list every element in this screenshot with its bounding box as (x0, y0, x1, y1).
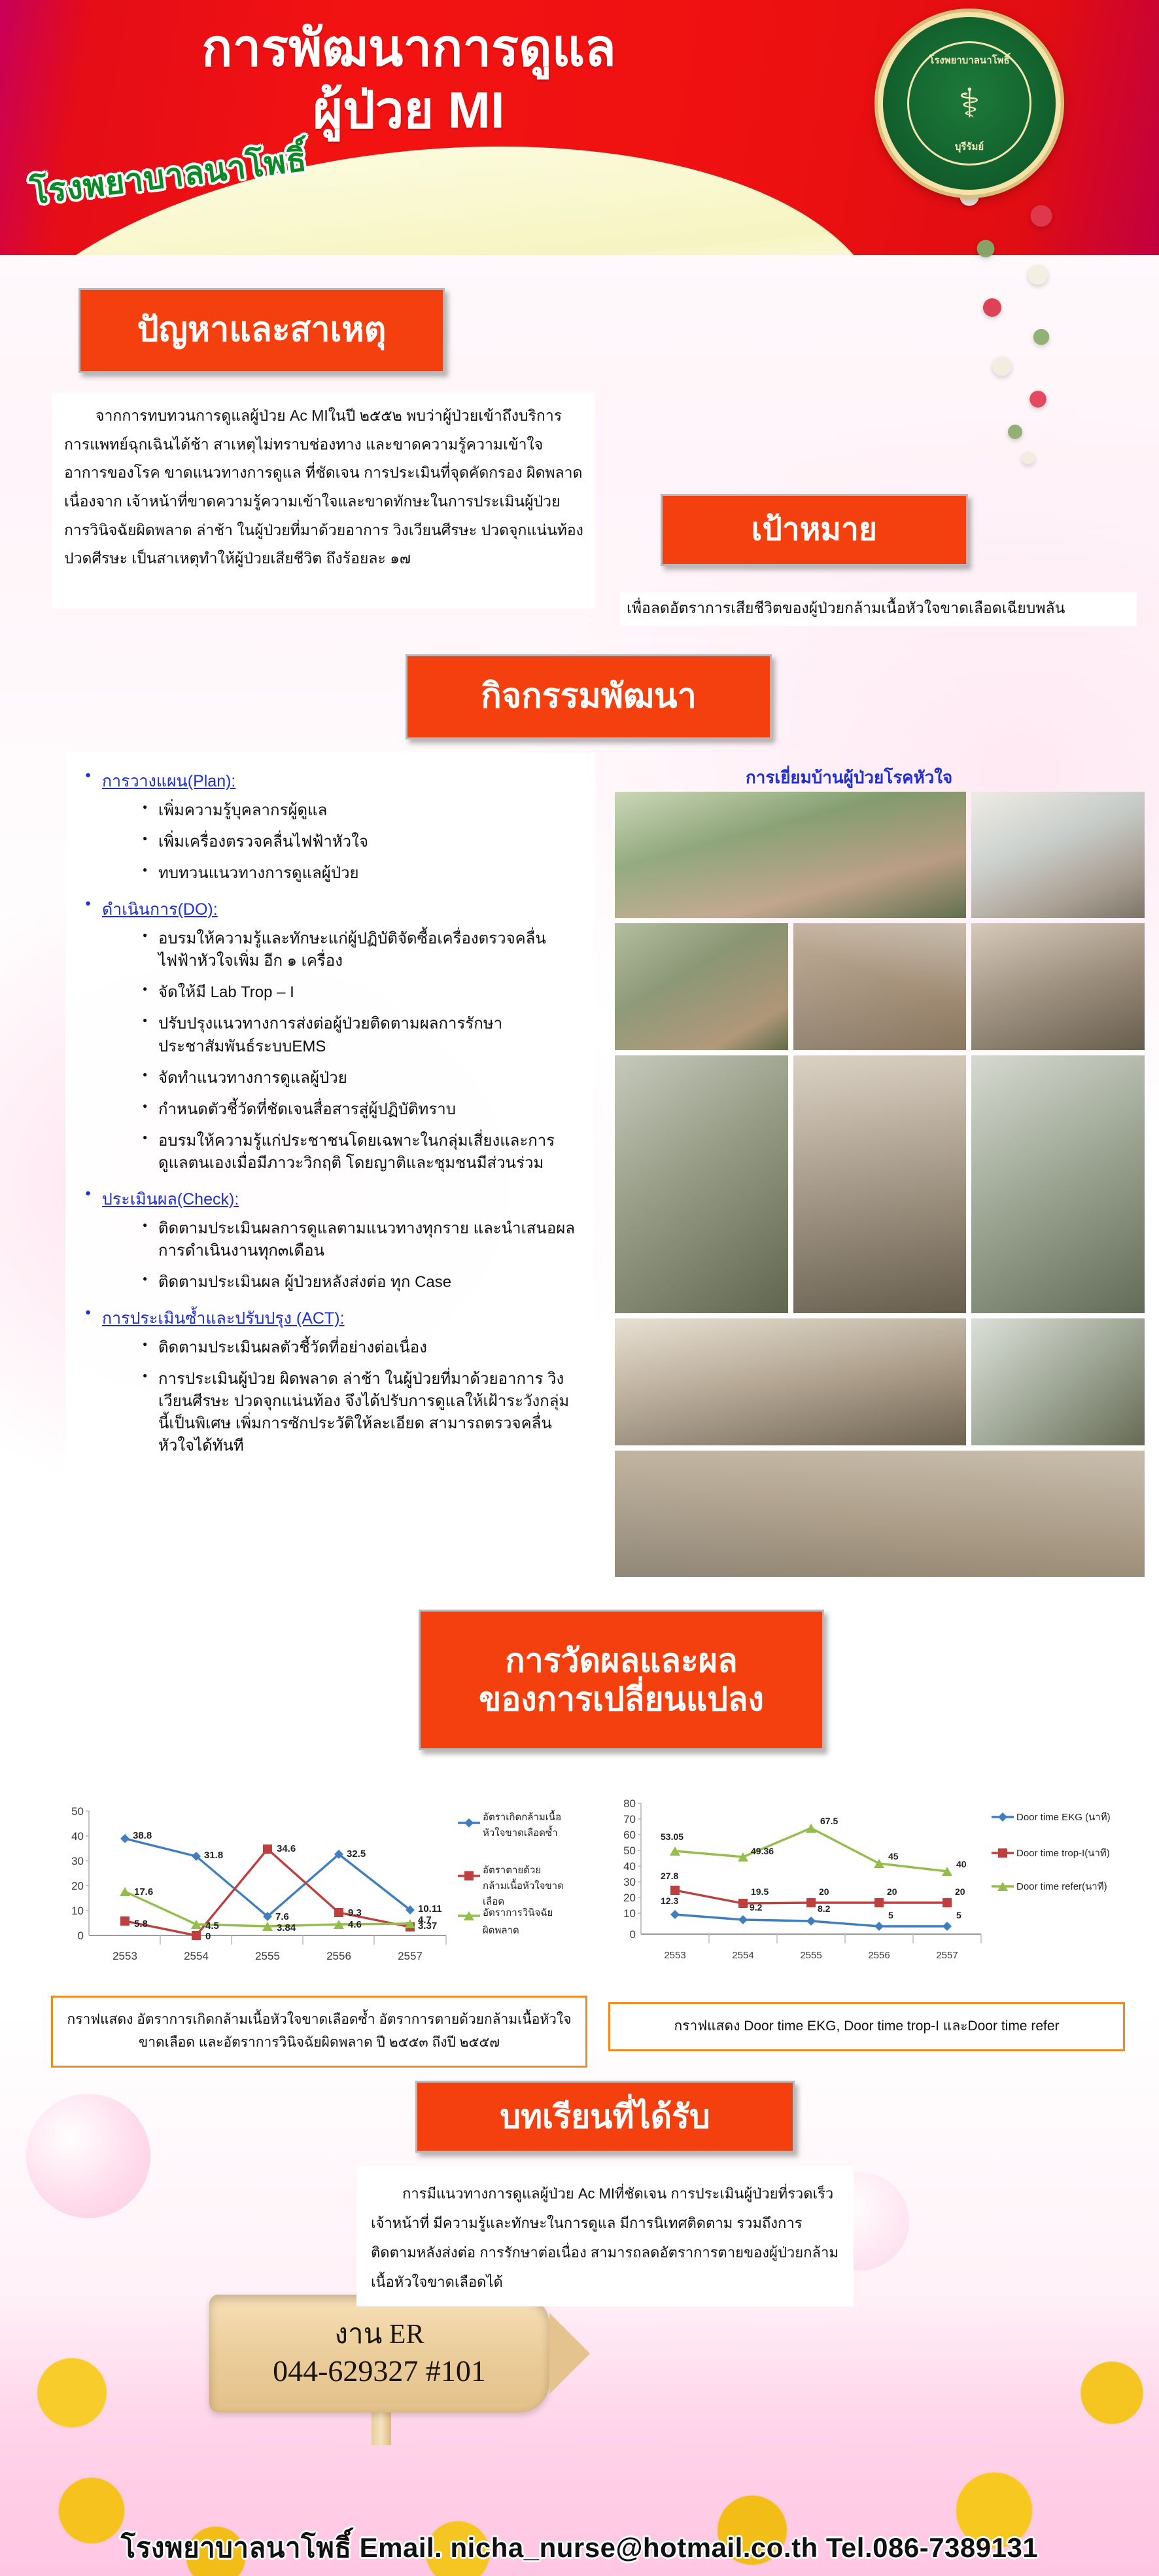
signpost-line1: งาน ER (335, 2318, 424, 2352)
svg-text:9.2: 9.2 (750, 1902, 763, 1913)
activities-bullet-panel: การวางแผน(Plan): เพิ่มความรู้บุคลากรผู้ด… (65, 752, 595, 1583)
activity-group-do-items: อบรมให้ความรู้และทักษะแก่ผู้ปฏิบัติจัดซื… (141, 928, 578, 1174)
svg-text:2554: 2554 (732, 1950, 753, 1961)
svg-text:5.8: 5.8 (134, 1918, 148, 1930)
section-heading-results-line1: การวัดผลและผล (505, 1642, 737, 1680)
svg-text:5: 5 (956, 1910, 961, 1920)
chart-2-svg: 80 70 60 50 40 30 20 10 0 (602, 1799, 1151, 2015)
hospital-seal-logo: โรงพยาบาลนาโพธิ์ ⚕ บุรีรัมย์ (878, 12, 1061, 195)
svg-text:2557: 2557 (936, 1950, 958, 1961)
svg-text:20: 20 (71, 1880, 84, 1892)
svg-text:34.6: 34.6 (277, 1843, 296, 1854)
seal-inner-ring: โรงพยาบาลนาโพธิ์ ⚕ บุรีรัมย์ (907, 41, 1031, 166)
section-heading-results: การวัดผลและผล ของการเปลี่ยนแปลง (419, 1610, 824, 1750)
section-heading-problem-label: ปัญหาและสาเหตุ (137, 310, 387, 350)
activity-group-do-label: ดำเนินการ(DO): (102, 900, 218, 919)
svg-text:8.2: 8.2 (818, 1903, 831, 1914)
poster-canvas: การพัฒนาการดูแล ผู้ป่วย MI โรงพยาบาลนาโพ… (0, 0, 1159, 2576)
svg-text:17.6: 17.6 (134, 1886, 153, 1897)
svg-text:อัตราเกิดกล้ามเนื้อ: อัตราเกิดกล้ามเนื้อ (483, 1810, 561, 1823)
activity-item: จัดทำแนวทางการดูแลผู้ป่วย (141, 1067, 578, 1089)
activity-group-check: ประเมินผล(Check): ติดตามประเมินผลการดูแล… (82, 1186, 578, 1294)
goal-body-box: เพื่อลดอัตราการเสียชีวิตของผู้ป่วยกล้ามเ… (620, 592, 1137, 626)
footer-contact-strip: โรงพยาบาลนาโพธิ์ Email. nicha_nurse@hotm… (0, 2526, 1159, 2569)
seal-bottom-text: บุรีรัมย์ (909, 139, 1029, 154)
activity-group-plan-label: การวางแผน(Plan): (102, 772, 235, 790)
photo-thumbnail (971, 923, 1145, 1050)
activity-item: ทบทวนแนวทางการดูแลผู้ป่วย (141, 862, 578, 885)
chart-2-card: 80 70 60 50 40 30 20 10 0 (602, 1799, 1151, 2015)
photo-thumbnail (971, 1055, 1145, 1314)
svg-text:2554: 2554 (184, 1950, 209, 1962)
svg-text:Door time refer(นาที): Door time refer(นาที) (1016, 1881, 1107, 1892)
svg-text:70: 70 (623, 1813, 636, 1826)
svg-text:2555: 2555 (800, 1950, 822, 1961)
svg-text:10: 10 (623, 1907, 636, 1920)
svg-text:50: 50 (71, 1805, 84, 1818)
svg-text:0: 0 (78, 1930, 84, 1942)
svg-text:ผิดพลาด: ผิดพลาด (483, 1925, 519, 1936)
svg-text:31.8: 31.8 (204, 1850, 223, 1861)
svg-text:20: 20 (955, 1886, 965, 1897)
chart-2-caption-text: กราฟแสดง Door time EKG, Door time trop-I… (674, 2015, 1059, 2038)
svg-text:20: 20 (887, 1886, 897, 1897)
chart-2-caption: กราฟแสดง Door time EKG, Door time trop-I… (608, 2002, 1125, 2051)
activity-item: ติดตามประเมินผลการดูแลตามแนวทางทุกราย แล… (141, 1218, 578, 1262)
activity-item: กำหนดตัวชี้วัดที่ชัดเจนสื่อสารสู่ผู้ปฏิบ… (141, 1099, 578, 1121)
activity-group-act: การประเมินซ้ำและปรับปรุง (ACT): ติดตามปร… (82, 1305, 578, 1457)
goal-body-text: เพื่อลดอัตราการเสียชีวิตของผู้ป่วยกล้ามเ… (627, 599, 1065, 616)
section-heading-activities: กิจกรรมพัฒนา (406, 654, 772, 739)
photo-thumbnail (615, 1318, 966, 1445)
problem-body-text: จากการทบทวนการดูแลผู้ป่วย Ac MIในปี ๒๕๕๒… (64, 402, 583, 573)
svg-text:2555: 2555 (255, 1950, 280, 1962)
photo-thumbnail (615, 1451, 1145, 1577)
svg-text:เลือด: เลือด (483, 1896, 504, 1907)
svg-text:7.6: 7.6 (275, 1911, 289, 1922)
photo-grid (615, 792, 1145, 1577)
svg-text:32.5: 32.5 (347, 1848, 366, 1860)
svg-text:10.11: 10.11 (418, 1903, 442, 1914)
svg-text:3.84: 3.84 (277, 1922, 296, 1933)
activity-item: ติดตามประเมินผล ผู้ป่วยหลังส่งต่อ ทุก Ca… (141, 1271, 578, 1294)
photo-thumbnail (615, 1055, 788, 1314)
section-heading-goal-label: เป้าหมาย (752, 512, 877, 549)
signpost-graphic: งาน ER 044-629327 #101 (209, 2295, 576, 2445)
svg-text:38.8: 38.8 (133, 1830, 152, 1841)
svg-text:20: 20 (623, 1892, 636, 1904)
svg-text:0: 0 (630, 1928, 636, 1941)
signpost-text: งาน ER 044-629327 #101 (209, 2295, 549, 2412)
activity-item: การประเมินผู้ป่วย ผิดพลาด ล่าช้า ในผู้ป่… (141, 1368, 578, 1457)
problem-body-box: จากการทบทวนการดูแลผู้ป่วย Ac MIในปี ๒๕๕๒… (52, 393, 595, 609)
activity-item: ติดตามประเมินผลตัวชี้วัดที่อย่างต่อเนื่อ… (141, 1337, 578, 1359)
svg-text:30: 30 (71, 1855, 84, 1867)
section-heading-lessons: บทเรียนที่ได้รับ (415, 2081, 795, 2153)
svg-text:2556: 2556 (868, 1950, 890, 1961)
chart-1-caption-text: กราฟแสดง อัตราการเกิดกล้ามเนื้อหัวใจขาดเ… (61, 2009, 578, 2054)
page-title-line2: ผู้ป่วย MI (0, 82, 818, 139)
footer-contact-text: โรงพยาบาลนาโพธิ์ Email. nicha_nurse@hotm… (121, 2532, 1038, 2563)
chart-1-card: 50 40 30 20 10 0 (46, 1799, 589, 2015)
svg-text:5: 5 (888, 1910, 893, 1920)
svg-text:40: 40 (623, 1860, 636, 1873)
svg-text:4.6: 4.6 (348, 1919, 362, 1930)
section-heading-lessons-label: บทเรียนที่ได้รับ (500, 2098, 710, 2136)
activity-item: จัดให้มี Lab Trop – I (141, 981, 578, 1004)
svg-text:67.5: 67.5 (820, 1816, 838, 1826)
svg-text:9.3: 9.3 (348, 1907, 362, 1918)
chart-1-caption: กราฟแสดง อัตราการเกิดกล้ามเนื้อหัวใจขาดเ… (51, 1996, 587, 2068)
activity-item: เพิ่มความรู้บุคลากรผู้ดูแล (141, 800, 578, 822)
svg-text:12.3: 12.3 (661, 1896, 678, 1906)
svg-text:กล้ามเนื้อหัวใจขาด: กล้ามเนื้อหัวใจขาด (483, 1879, 564, 1892)
chart-1-svg: 50 40 30 20 10 0 (46, 1799, 589, 2015)
activity-group-plan-items: เพิ่มความรู้บุคลากรผู้ดูแล เพิ่มเครื่องต… (141, 800, 578, 885)
photo-thumbnail (793, 1055, 967, 1314)
section-heading-goal: เป้าหมาย (661, 494, 968, 566)
activity-group-plan: การวางแผน(Plan): เพิ่มความรู้บุคลากรผู้ด… (82, 768, 578, 885)
svg-text:Door time EKG (นาที): Door time EKG (นาที) (1016, 1812, 1111, 1823)
photo-grid-label: การเยี่ยมบ้านผู้ป่วยโรคหัวใจ (746, 764, 952, 791)
svg-text:0: 0 (205, 1931, 211, 1942)
activity-group-check-items: ติดตามประเมินผลการดูแลตามแนวทางทุกราย แล… (141, 1218, 578, 1294)
caduceus-icon: ⚕ (958, 83, 980, 124)
photo-thumbnail (971, 1318, 1145, 1445)
svg-text:27.8: 27.8 (661, 1871, 678, 1881)
section-heading-activities-label: กิจกรรมพัฒนา (481, 677, 697, 716)
svg-text:4.5: 4.5 (205, 1920, 219, 1932)
svg-text:Door time trop-I(นาที): Door time trop-I(นาที) (1016, 1848, 1110, 1859)
activity-group-act-label: การประเมินซ้ำและปรับปรุง (ACT): (102, 1309, 345, 1328)
activity-group-check-label: ประเมินผล(Check): (102, 1190, 239, 1209)
activity-item: เพิ่มเครื่องตรวจคลื่นไฟฟ้าหัวใจ (141, 831, 578, 853)
decor-spot-1 (26, 2094, 150, 2218)
photo-thumbnail (971, 792, 1145, 918)
activity-item: ปรับปรุงแนวทางการส่งต่อผู้ป่วยติดตามผลกา… (141, 1013, 578, 1057)
svg-text:2553: 2553 (112, 1950, 137, 1962)
svg-text:40: 40 (956, 1859, 967, 1869)
photo-thumbnail (615, 792, 966, 918)
activity-group-do: ดำเนินการ(DO): อบรมให้ความรู้และทักษะแก่… (82, 896, 578, 1174)
activity-group-act-items: ติดตามประเมินผลตัวชี้วัดที่อย่างต่อเนื่อ… (141, 1337, 578, 1457)
svg-text:4.7: 4.7 (418, 1914, 432, 1926)
activity-group-list: การวางแผน(Plan): เพิ่มความรู้บุคลากรผู้ด… (82, 768, 578, 1458)
activity-item: อบรมให้ความรู้และทักษะแก่ผู้ปฏิบัติจัดซื… (141, 928, 578, 972)
svg-text:2553: 2553 (664, 1950, 685, 1961)
svg-text:19.5: 19.5 (751, 1886, 769, 1897)
svg-text:49.36: 49.36 (751, 1846, 774, 1856)
svg-text:53.05: 53.05 (661, 1831, 683, 1842)
signpost-line2: 044-629327 #101 (273, 2352, 486, 2390)
page-title-line1: การพัฒนาการดูแล (201, 19, 616, 77)
activity-item: อบรมให้ความรู้แก่ประชาชนโดยเฉพาะในกลุ่มเ… (141, 1130, 578, 1174)
svg-text:40: 40 (71, 1830, 84, 1843)
svg-text:อัตราการวินิจฉัย: อัตราการวินิจฉัย (483, 1907, 553, 1918)
svg-text:2556: 2556 (326, 1950, 351, 1962)
svg-text:45: 45 (888, 1851, 899, 1861)
svg-text:60: 60 (623, 1829, 636, 1841)
page-title: การพัฒนาการดูแล ผู้ป่วย MI (0, 20, 818, 139)
lessons-body-box: การมีแนวทางการดูแลผู้ป่วย Ac MIที่ชัดเจน… (356, 2166, 854, 2306)
svg-text:2557: 2557 (398, 1950, 423, 1962)
photo-thumbnail (793, 923, 967, 1050)
section-heading-problem: ปัญหาและสาเหตุ (78, 288, 445, 373)
svg-text:20: 20 (819, 1886, 829, 1897)
svg-text:80: 80 (623, 1799, 636, 1810)
section-heading-results-line2: ของการเปลี่ยนแปลง (479, 1680, 764, 1719)
svg-text:หัวใจขาดเลือดซ้ำ: หัวใจขาดเลือดซ้ำ (483, 1826, 558, 1839)
svg-text:30: 30 (623, 1876, 636, 1888)
seal-circle: โรงพยาบาลนาโพธิ์ ⚕ บุรีรัมย์ (878, 12, 1061, 195)
seal-top-text: โรงพยาบาลนาโพธิ์ (909, 52, 1029, 68)
svg-text:50: 50 (623, 1844, 636, 1857)
svg-text:10: 10 (71, 1905, 84, 1917)
lessons-body-text: การมีแนวทางการดูแลผู้ป่วย Ac MIที่ชัดเจน… (371, 2179, 839, 2297)
photo-thumbnail (615, 923, 788, 1050)
svg-text:อัตราตายด้วย: อัตราตายด้วย (483, 1865, 541, 1876)
